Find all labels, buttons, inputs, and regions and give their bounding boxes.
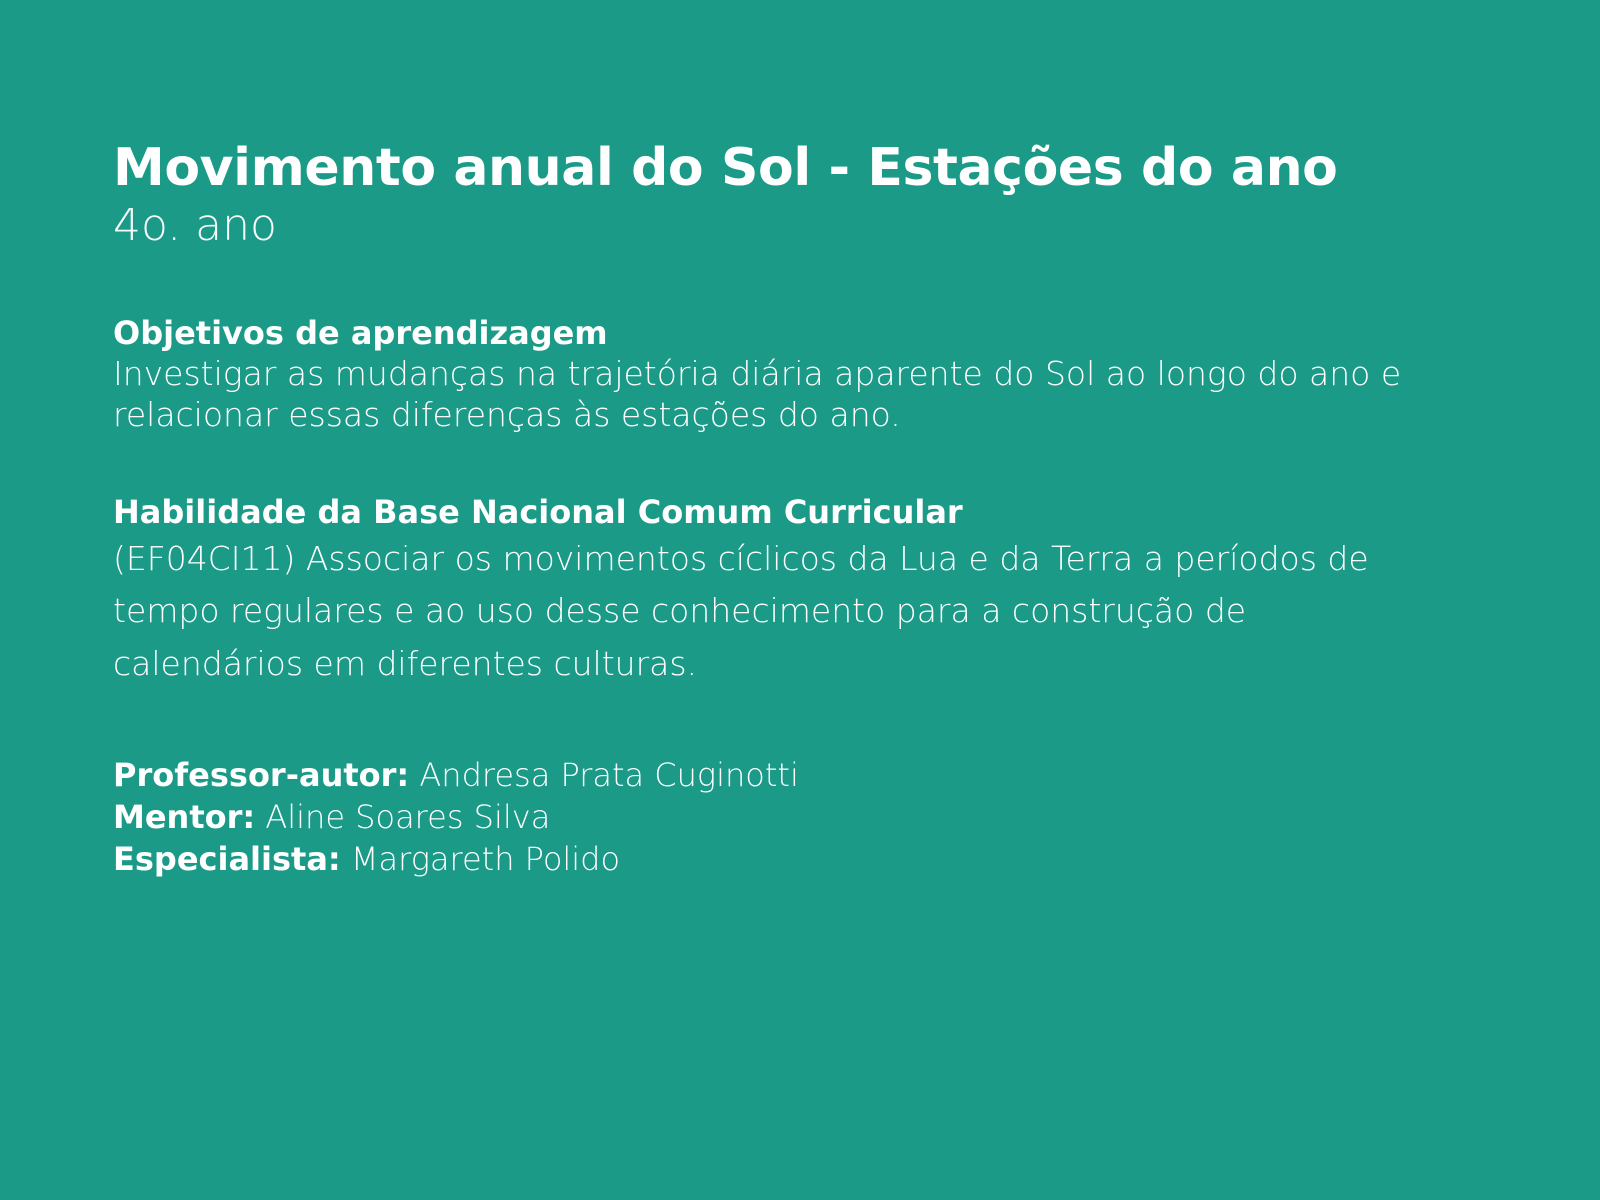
credit-name-especialista: Margareth Polido (351, 840, 620, 878)
section-objetivos-de-aprendizagem: Objetivos de aprendizagem Investigar as … (113, 314, 1450, 435)
credit-line-mentor: Mentor: Aline Soares Silva (113, 796, 1450, 838)
credit-line-professor-autor: Professor-autor: Andresa Prata Cuginotti (113, 754, 1450, 796)
section-body-bncc: (EF04CI11) Associar os movimentos cíclic… (113, 533, 1443, 689)
credit-line-especialista: Especialista: Margareth Polido (113, 838, 1450, 880)
page-title: Movimento anual do Sol - Estações do ano (113, 140, 1450, 196)
credits-block: Professor-autor: Andresa Prata Cuginotti… (113, 754, 1450, 881)
section-heading-bncc: Habilidade da Base Nacional Comum Curric… (113, 493, 1450, 531)
page-subtitle: 4o. ano (113, 200, 1450, 252)
credit-role-mentor: Mentor: (113, 798, 255, 836)
section-heading-objetivos: Objetivos de aprendizagem (113, 314, 1450, 352)
section-body-objetivos: Investigar as mudanças na trajetória diá… (113, 354, 1443, 435)
credit-role-especialista: Especialista: (113, 840, 341, 878)
slide-root: Movimento anual do Sol - Estações do ano… (0, 0, 1600, 1200)
credit-role-professor-autor: Professor-autor: (113, 756, 409, 794)
slide-header: Movimento anual do Sol - Estações do ano… (113, 140, 1450, 252)
credit-name-professor-autor: Andresa Prata Cuginotti (419, 756, 798, 794)
section-habilidade-bncc: Habilidade da Base Nacional Comum Curric… (113, 493, 1450, 690)
credit-name-mentor: Aline Soares Silva (265, 798, 550, 836)
